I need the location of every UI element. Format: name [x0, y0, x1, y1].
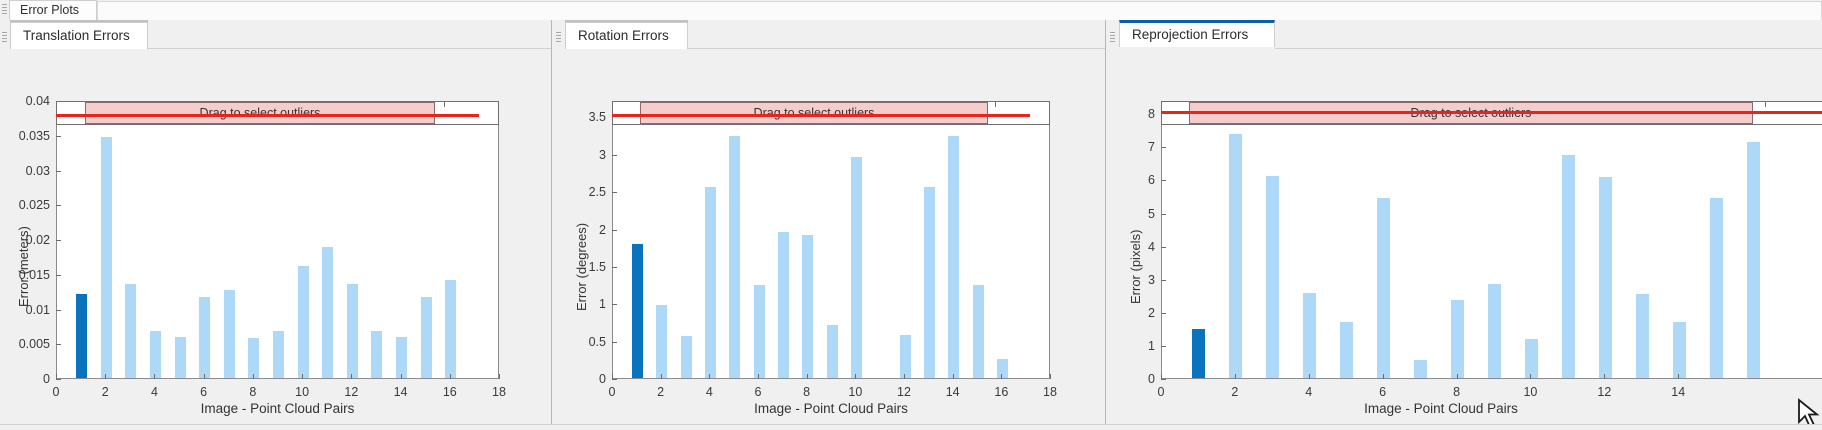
- bar[interactable]: [1747, 142, 1760, 378]
- bar[interactable]: [1266, 176, 1279, 378]
- x-tick: [612, 374, 613, 379]
- x-tick-label: 4: [706, 385, 713, 399]
- bar[interactable]: [396, 337, 407, 378]
- x-tick-label: 18: [492, 385, 506, 399]
- x-tick: [450, 374, 451, 379]
- bar[interactable]: [1710, 198, 1723, 378]
- bar[interactable]: [948, 136, 959, 378]
- bar[interactable]: [1303, 293, 1316, 378]
- y-tick: [1161, 180, 1166, 181]
- threshold-line-translation[interactable]: [56, 114, 479, 117]
- y-tick: [56, 205, 61, 206]
- panel-rotation-errors: Rotation Errors 00.511.522.533.5 Error (…: [552, 20, 1105, 430]
- bar[interactable]: [1340, 322, 1353, 378]
- y-tick: [1161, 280, 1166, 281]
- bar[interactable]: [729, 136, 740, 378]
- y-tick: [612, 155, 617, 156]
- bar[interactable]: [705, 187, 716, 378]
- y-tick-label: 0.5: [552, 335, 606, 349]
- y-tick: [56, 344, 61, 345]
- y-tick: [56, 379, 61, 380]
- y-tick-label: 7: [1106, 140, 1155, 154]
- y-tick-label: 1: [1106, 339, 1155, 353]
- bar[interactable]: [1451, 300, 1464, 378]
- x-tick-label: 14: [394, 385, 408, 399]
- x-tick-label: 8: [249, 385, 256, 399]
- panel-reprojection-errors: Reprojection Errors 012345678 Error (pix…: [1106, 20, 1822, 430]
- x-tick-label: 10: [1523, 385, 1537, 399]
- y-tick: [56, 275, 61, 276]
- x-tick: [1161, 374, 1162, 379]
- panel-tab-rotation-errors-label: Rotation Errors: [578, 28, 669, 43]
- top-tab-strip: Error Plots: [0, 0, 1822, 21]
- bar[interactable]: [175, 337, 186, 378]
- bar[interactable]: [997, 359, 1008, 378]
- chart-reprojection-errors: 012345678 Error (pixels) 02468101214 Ima…: [1106, 49, 1822, 430]
- y-tick-label: 3.5: [552, 110, 606, 124]
- x-tick-label: 10: [295, 385, 309, 399]
- y-tick-label: 0.025: [0, 198, 50, 212]
- y-tick-label: 0: [0, 372, 50, 386]
- x-tick: [855, 374, 856, 379]
- x-tick: [154, 374, 155, 379]
- x-tick-label: 6: [755, 385, 762, 399]
- x-axis-label-rotation-errors: Image - Point Cloud Pairs: [612, 401, 1050, 416]
- y-tick-label: 0: [552, 372, 606, 386]
- bar[interactable]: [322, 247, 333, 378]
- y-tick-label: 6: [1106, 173, 1155, 187]
- y-tick-label: 2: [1106, 306, 1155, 320]
- error-plots-window: Error Plots Translation Errors 00.0050.0…: [0, 0, 1822, 430]
- bar[interactable]: [298, 266, 309, 378]
- bar[interactable]: [445, 280, 456, 378]
- x-tick: [1457, 374, 1458, 379]
- panel-tab-reprojection-errors-label: Reprojection Errors: [1132, 27, 1248, 42]
- bar[interactable]: [150, 331, 161, 378]
- y-tick-label: 8: [1106, 107, 1155, 121]
- x-tick: [401, 374, 402, 379]
- bar[interactable]: [273, 331, 284, 378]
- bar[interactable]: [1377, 198, 1390, 378]
- threshold-line-reprojection[interactable]: [1161, 111, 1822, 114]
- bar[interactable]: [125, 284, 136, 378]
- plot-area-reprojection-errors[interactable]: [1161, 101, 1822, 379]
- tab-error-plots[interactable]: Error Plots: [9, 0, 97, 20]
- bar[interactable]: [1673, 322, 1686, 378]
- plot-area-translation-errors[interactable]: [56, 101, 499, 379]
- x-tick: [758, 374, 759, 379]
- bar[interactable]: [248, 338, 259, 378]
- bar[interactable]: [1636, 294, 1649, 378]
- bar[interactable]: [851, 157, 862, 378]
- x-tick-label: 12: [344, 385, 358, 399]
- x-tick: [1383, 374, 1384, 379]
- x-tick: [1050, 374, 1051, 379]
- bar[interactable]: [1414, 360, 1427, 378]
- chart-translation-errors: 00.0050.010.0150.020.0250.030.0350.04 Er…: [0, 49, 551, 430]
- bar[interactable]: [802, 235, 813, 378]
- x-tick-label: 14: [946, 385, 960, 399]
- y-tick: [1161, 214, 1166, 215]
- drag-grip-icon[interactable]: [2, 4, 7, 16]
- x-tick: [253, 374, 254, 379]
- x-axis-label-translation-errors: Image - Point Cloud Pairs: [56, 401, 499, 416]
- x-tick-label: 18: [1043, 385, 1057, 399]
- tab-error-plots-label: Error Plots: [20, 3, 79, 17]
- threshold-line-rotation[interactable]: [612, 114, 1030, 117]
- plot-area-rotation-errors[interactable]: [612, 101, 1050, 379]
- x-tick: [1530, 374, 1531, 379]
- x-tick-label: 4: [1305, 385, 1312, 399]
- panel-2-drag-grip-icon[interactable]: [556, 32, 561, 44]
- bar[interactable]: [827, 325, 838, 378]
- x-tick: [105, 374, 106, 379]
- x-tick-label: 0: [53, 385, 60, 399]
- y-axis-label-translation-errors: Error (meters): [16, 226, 31, 307]
- y-tick: [56, 240, 61, 241]
- bar[interactable]: [973, 285, 984, 378]
- y-tick: [1161, 247, 1166, 248]
- bar[interactable]: [900, 335, 911, 378]
- bar[interactable]: [101, 137, 112, 378]
- y-tick: [56, 310, 61, 311]
- y-tick: [56, 136, 61, 137]
- bar[interactable]: [199, 297, 210, 378]
- x-tick: [56, 374, 57, 379]
- y-tick: [612, 342, 617, 343]
- y-tick-label: 2.5: [552, 185, 606, 199]
- y-tick-label: 0.03: [0, 164, 50, 178]
- bar[interactable]: [681, 336, 692, 378]
- y-tick: [612, 304, 617, 305]
- panel-tab-translation-errors-label: Translation Errors: [23, 28, 130, 43]
- x-tick-label: 2: [657, 385, 664, 399]
- bar[interactable]: [347, 284, 358, 378]
- panel-3-drag-grip-icon[interactable]: [1110, 32, 1115, 44]
- panel-tab-reprojection-errors[interactable]: Reprojection Errors: [1119, 20, 1275, 47]
- x-tick: [953, 374, 954, 379]
- x-tick: [661, 374, 662, 379]
- x-tick: [904, 374, 905, 379]
- bar[interactable]: [778, 232, 789, 378]
- y-tick-label: 5: [1106, 207, 1155, 221]
- y-tick-label: 0.005: [0, 337, 50, 351]
- y-tick: [612, 379, 617, 380]
- bar[interactable]: [224, 290, 235, 378]
- panel-translation-errors: Translation Errors 00.0050.010.0150.020.…: [0, 20, 551, 430]
- x-tick: [1604, 374, 1605, 379]
- bar[interactable]: [1599, 177, 1612, 378]
- x-tick-label: 0: [1158, 385, 1165, 399]
- bar[interactable]: [656, 305, 667, 378]
- bar[interactable]: [371, 331, 382, 378]
- y-tick: [612, 192, 617, 193]
- y-tick: [1161, 346, 1166, 347]
- x-tick-label: 8: [803, 385, 810, 399]
- bar[interactable]: [1488, 284, 1501, 378]
- y-tick: [1161, 147, 1166, 148]
- x-tick: [204, 374, 205, 379]
- x-tick-label: 12: [1597, 385, 1611, 399]
- x-tick: [709, 374, 710, 379]
- bar[interactable]: [754, 285, 765, 378]
- y-tick: [1161, 313, 1166, 314]
- x-tick: [499, 374, 500, 379]
- y-axis-label-rotation-errors: Error (degrees): [574, 223, 589, 311]
- x-tick: [351, 374, 352, 379]
- y-tick: [1161, 379, 1166, 380]
- x-tick: [1235, 374, 1236, 379]
- x-tick: [1001, 374, 1002, 379]
- bar[interactable]: [1192, 329, 1205, 378]
- x-tick-label: 8: [1453, 385, 1460, 399]
- x-tick-label: 12: [897, 385, 911, 399]
- x-tick-label: 10: [848, 385, 862, 399]
- panel-tab-translation-errors[interactable]: Translation Errors: [10, 22, 148, 49]
- y-tick: [56, 171, 61, 172]
- y-tick-label: 3: [552, 148, 606, 162]
- bar[interactable]: [924, 187, 935, 378]
- bottom-strip: [0, 424, 1822, 430]
- x-tick: [807, 374, 808, 379]
- bar[interactable]: [1525, 339, 1538, 378]
- x-tick-label: 4: [151, 385, 158, 399]
- x-tick: [302, 374, 303, 379]
- x-tick-label: 14: [1671, 385, 1685, 399]
- bar[interactable]: [76, 294, 87, 378]
- x-tick: [1678, 374, 1679, 379]
- x-tick-label: 6: [1379, 385, 1386, 399]
- bar[interactable]: [1562, 155, 1575, 378]
- panel-1-drag-grip-icon[interactable]: [2, 32, 7, 44]
- x-tick-label: 16: [994, 385, 1008, 399]
- x-tick-label: 16: [443, 385, 457, 399]
- x-tick: [1309, 374, 1310, 379]
- y-axis-label-reprojection-errors: Error (pixels): [1128, 230, 1143, 304]
- bar[interactable]: [1229, 134, 1242, 378]
- bar[interactable]: [632, 244, 643, 378]
- x-tick-label: 0: [609, 385, 616, 399]
- y-tick: [612, 230, 617, 231]
- y-tick-label: 0.035: [0, 129, 50, 143]
- bar[interactable]: [421, 297, 432, 378]
- x-tick-label: 6: [200, 385, 207, 399]
- chart-rotation-errors: 00.511.522.533.5 Error (degrees) 0246810…: [552, 49, 1105, 430]
- top-tab-strip-filler: [97, 1, 1822, 20]
- y-tick-label: 0: [1106, 372, 1155, 386]
- x-tick-label: 2: [102, 385, 109, 399]
- x-axis-label-reprojection-errors: Image - Point Cloud Pairs: [1161, 401, 1721, 416]
- y-tick-label: 0.04: [0, 94, 50, 108]
- x-tick-label: 2: [1231, 385, 1238, 399]
- panel-tab-rotation-errors[interactable]: Rotation Errors: [565, 22, 688, 49]
- y-tick: [612, 267, 617, 268]
